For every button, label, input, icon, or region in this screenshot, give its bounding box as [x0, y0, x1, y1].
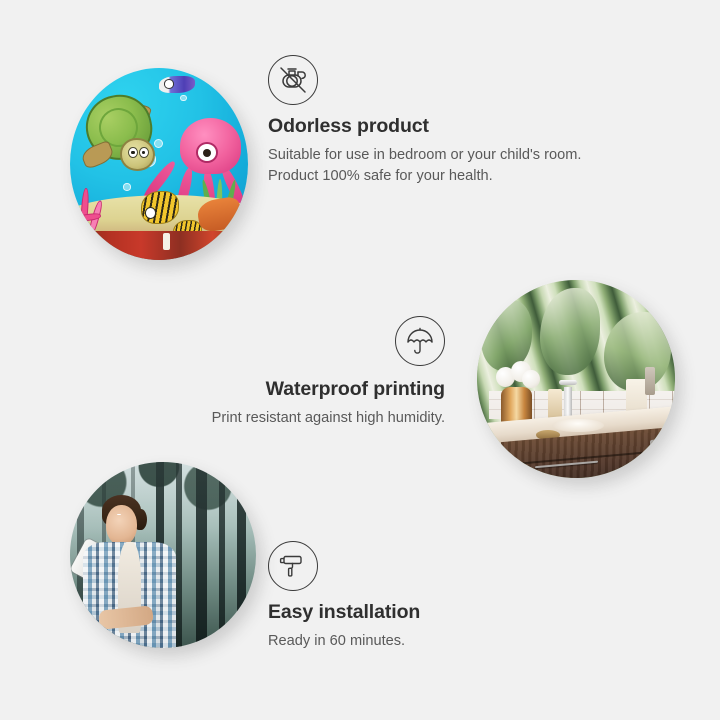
candle — [548, 389, 562, 419]
turtle-head — [120, 138, 155, 171]
yellow-striped-fish-icon — [141, 191, 179, 224]
cabinet-handle — [650, 440, 657, 470]
faucet-icon — [564, 387, 572, 419]
soap-dispenser — [645, 367, 655, 395]
feature-odorless: Odorless product Suitable for use in bed… — [268, 55, 608, 187]
smile — [117, 514, 121, 515]
feature-description: Ready in 60 minutes. — [268, 631, 588, 652]
feature-description: Suitable for use in bedroom or your chil… — [268, 145, 608, 186]
feature-waterproof: Waterproof printing Print resistant agai… — [120, 316, 445, 429]
no-perfume-icon — [268, 55, 318, 105]
feature-easy-installation: Easy installation Ready in 60 minutes. — [268, 541, 588, 652]
feature-description: Print resistant against high humidity. — [120, 408, 445, 429]
bubble-icon — [180, 95, 186, 101]
paint-roller-icon — [268, 541, 318, 591]
sea-turtle-icon — [81, 95, 166, 176]
forest-mural-scene — [70, 462, 256, 648]
feature-title: Waterproof printing — [120, 378, 445, 401]
umbrella-icon — [395, 316, 445, 366]
blue-fish-icon — [159, 76, 195, 93]
underwater-scene — [70, 68, 248, 260]
bathroom-scene — [477, 280, 675, 478]
woman-figure — [81, 495, 178, 648]
underwater-cartoon-mural-photo[interactable] — [70, 68, 248, 260]
face — [106, 505, 137, 546]
octopus-head — [180, 118, 241, 174]
woman-paint-roller-forest-photo[interactable] — [70, 462, 256, 648]
feature-panel: Odorless product Suitable for use in bed… — [0, 0, 720, 720]
feature-title: Easy installation — [268, 601, 588, 624]
mural-bottom-strip — [70, 231, 248, 260]
turtle-eye — [139, 147, 149, 158]
turtle-eye — [128, 147, 138, 158]
bathroom-tropical-wallpaper-photo[interactable] — [477, 280, 675, 478]
feature-title: Odorless product — [268, 115, 608, 138]
drawer-handle — [534, 461, 597, 469]
octopus-eye — [196, 142, 218, 163]
